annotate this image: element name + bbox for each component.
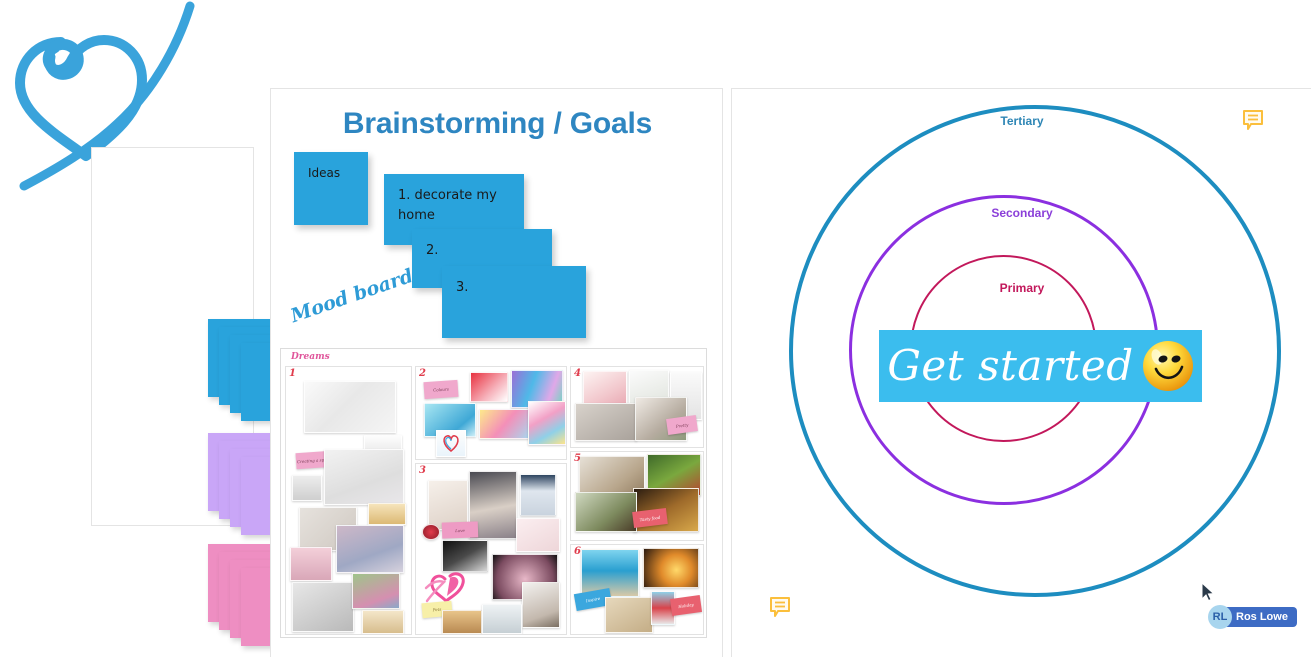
collage-photo — [575, 492, 637, 532]
collage-photo — [583, 371, 627, 407]
collage-tag: Holiday — [670, 595, 702, 616]
collage-photo — [290, 547, 332, 581]
collage-photo — [336, 525, 404, 573]
collage-panel-number: 6 — [574, 546, 581, 557]
ring-label-secondary: Secondary — [732, 206, 1311, 220]
collage-photo — [520, 474, 556, 516]
mouse-pointer-icon — [1201, 582, 1215, 602]
collage-photo — [470, 372, 508, 402]
collage-photo — [528, 401, 566, 445]
collage-photo — [482, 604, 522, 634]
ring-label-tertiary: Tertiary — [732, 114, 1311, 128]
collage-photo — [581, 549, 639, 597]
collage-photo — [368, 503, 406, 525]
sticky-note-goal-3[interactable]: 3. — [442, 266, 586, 338]
collage-photo — [516, 518, 560, 552]
collage-panel-2[interactable]: 2 Colours — [415, 366, 567, 460]
collage-photo — [575, 403, 637, 441]
collage-photo — [352, 573, 400, 609]
sticky-notes-panel — [91, 147, 254, 526]
collage-photo — [362, 610, 404, 634]
collage-panel-number: 1 — [289, 368, 296, 379]
comment-icon[interactable] — [1242, 109, 1264, 131]
collage-photo — [292, 475, 322, 501]
avatar: RL — [1208, 605, 1232, 629]
mood-board-collage[interactable]: Dreams 1 Creating a space 2 Colo — [280, 348, 707, 638]
collage-photo — [442, 610, 482, 634]
comment-icon[interactable] — [769, 596, 791, 618]
collage-photo — [643, 548, 699, 588]
get-started-label: Get started — [887, 345, 1133, 387]
collage-tag: Love — [442, 521, 479, 538]
collage-photo — [479, 409, 531, 439]
collage-photo — [304, 381, 396, 433]
smiley-face-icon — [1142, 340, 1194, 392]
collage-photo — [422, 524, 440, 540]
get-started-banner[interactable]: Get started — [879, 330, 1202, 402]
collage-panel-5[interactable]: 5 Tasty food — [570, 451, 704, 541]
collage-panel-number: 4 — [574, 368, 581, 379]
brainstorming-panel: Brainstorming / Goals Ideas 1. decorate … — [270, 88, 723, 657]
collage-title: Dreams — [291, 352, 330, 362]
collage-panel-number: 2 — [419, 368, 426, 379]
moodboard-label: Mood board — [288, 265, 416, 327]
user-name-label: Ros Lowe — [1221, 607, 1297, 627]
user-presence-badge[interactable]: RL Ros Lowe — [1208, 605, 1297, 628]
ring-label-primary: Primary — [732, 281, 1311, 295]
collage-panel-3[interactable]: 3 Love Pets — [415, 463, 567, 635]
page-title: Brainstorming / Goals — [271, 107, 724, 141]
collage-photo — [324, 449, 404, 505]
collage-panel-6[interactable]: 6 Inspire Holiday — [570, 544, 704, 635]
collage-panel-4[interactable]: 4 Pretty — [570, 366, 704, 448]
heart-doodle-icon — [440, 433, 462, 453]
collage-tag: Colours — [423, 380, 458, 399]
collage-photo — [522, 582, 560, 628]
collage-panel-number: 5 — [574, 453, 581, 464]
concentric-circles-panel: Tertiary Secondary Primary Get started — [731, 88, 1311, 657]
collage-panel-number: 3 — [419, 465, 426, 476]
collage-panel-1[interactable]: 1 Creating a space — [285, 366, 412, 635]
sticky-note-ideas[interactable]: Ideas — [294, 152, 368, 225]
collage-tag: Pretty — [666, 415, 698, 435]
collage-photo — [292, 582, 354, 632]
collage-photo — [605, 597, 653, 633]
whiteboard-canvas: Brainstorming / Goals Ideas 1. decorate … — [0, 0, 1311, 657]
